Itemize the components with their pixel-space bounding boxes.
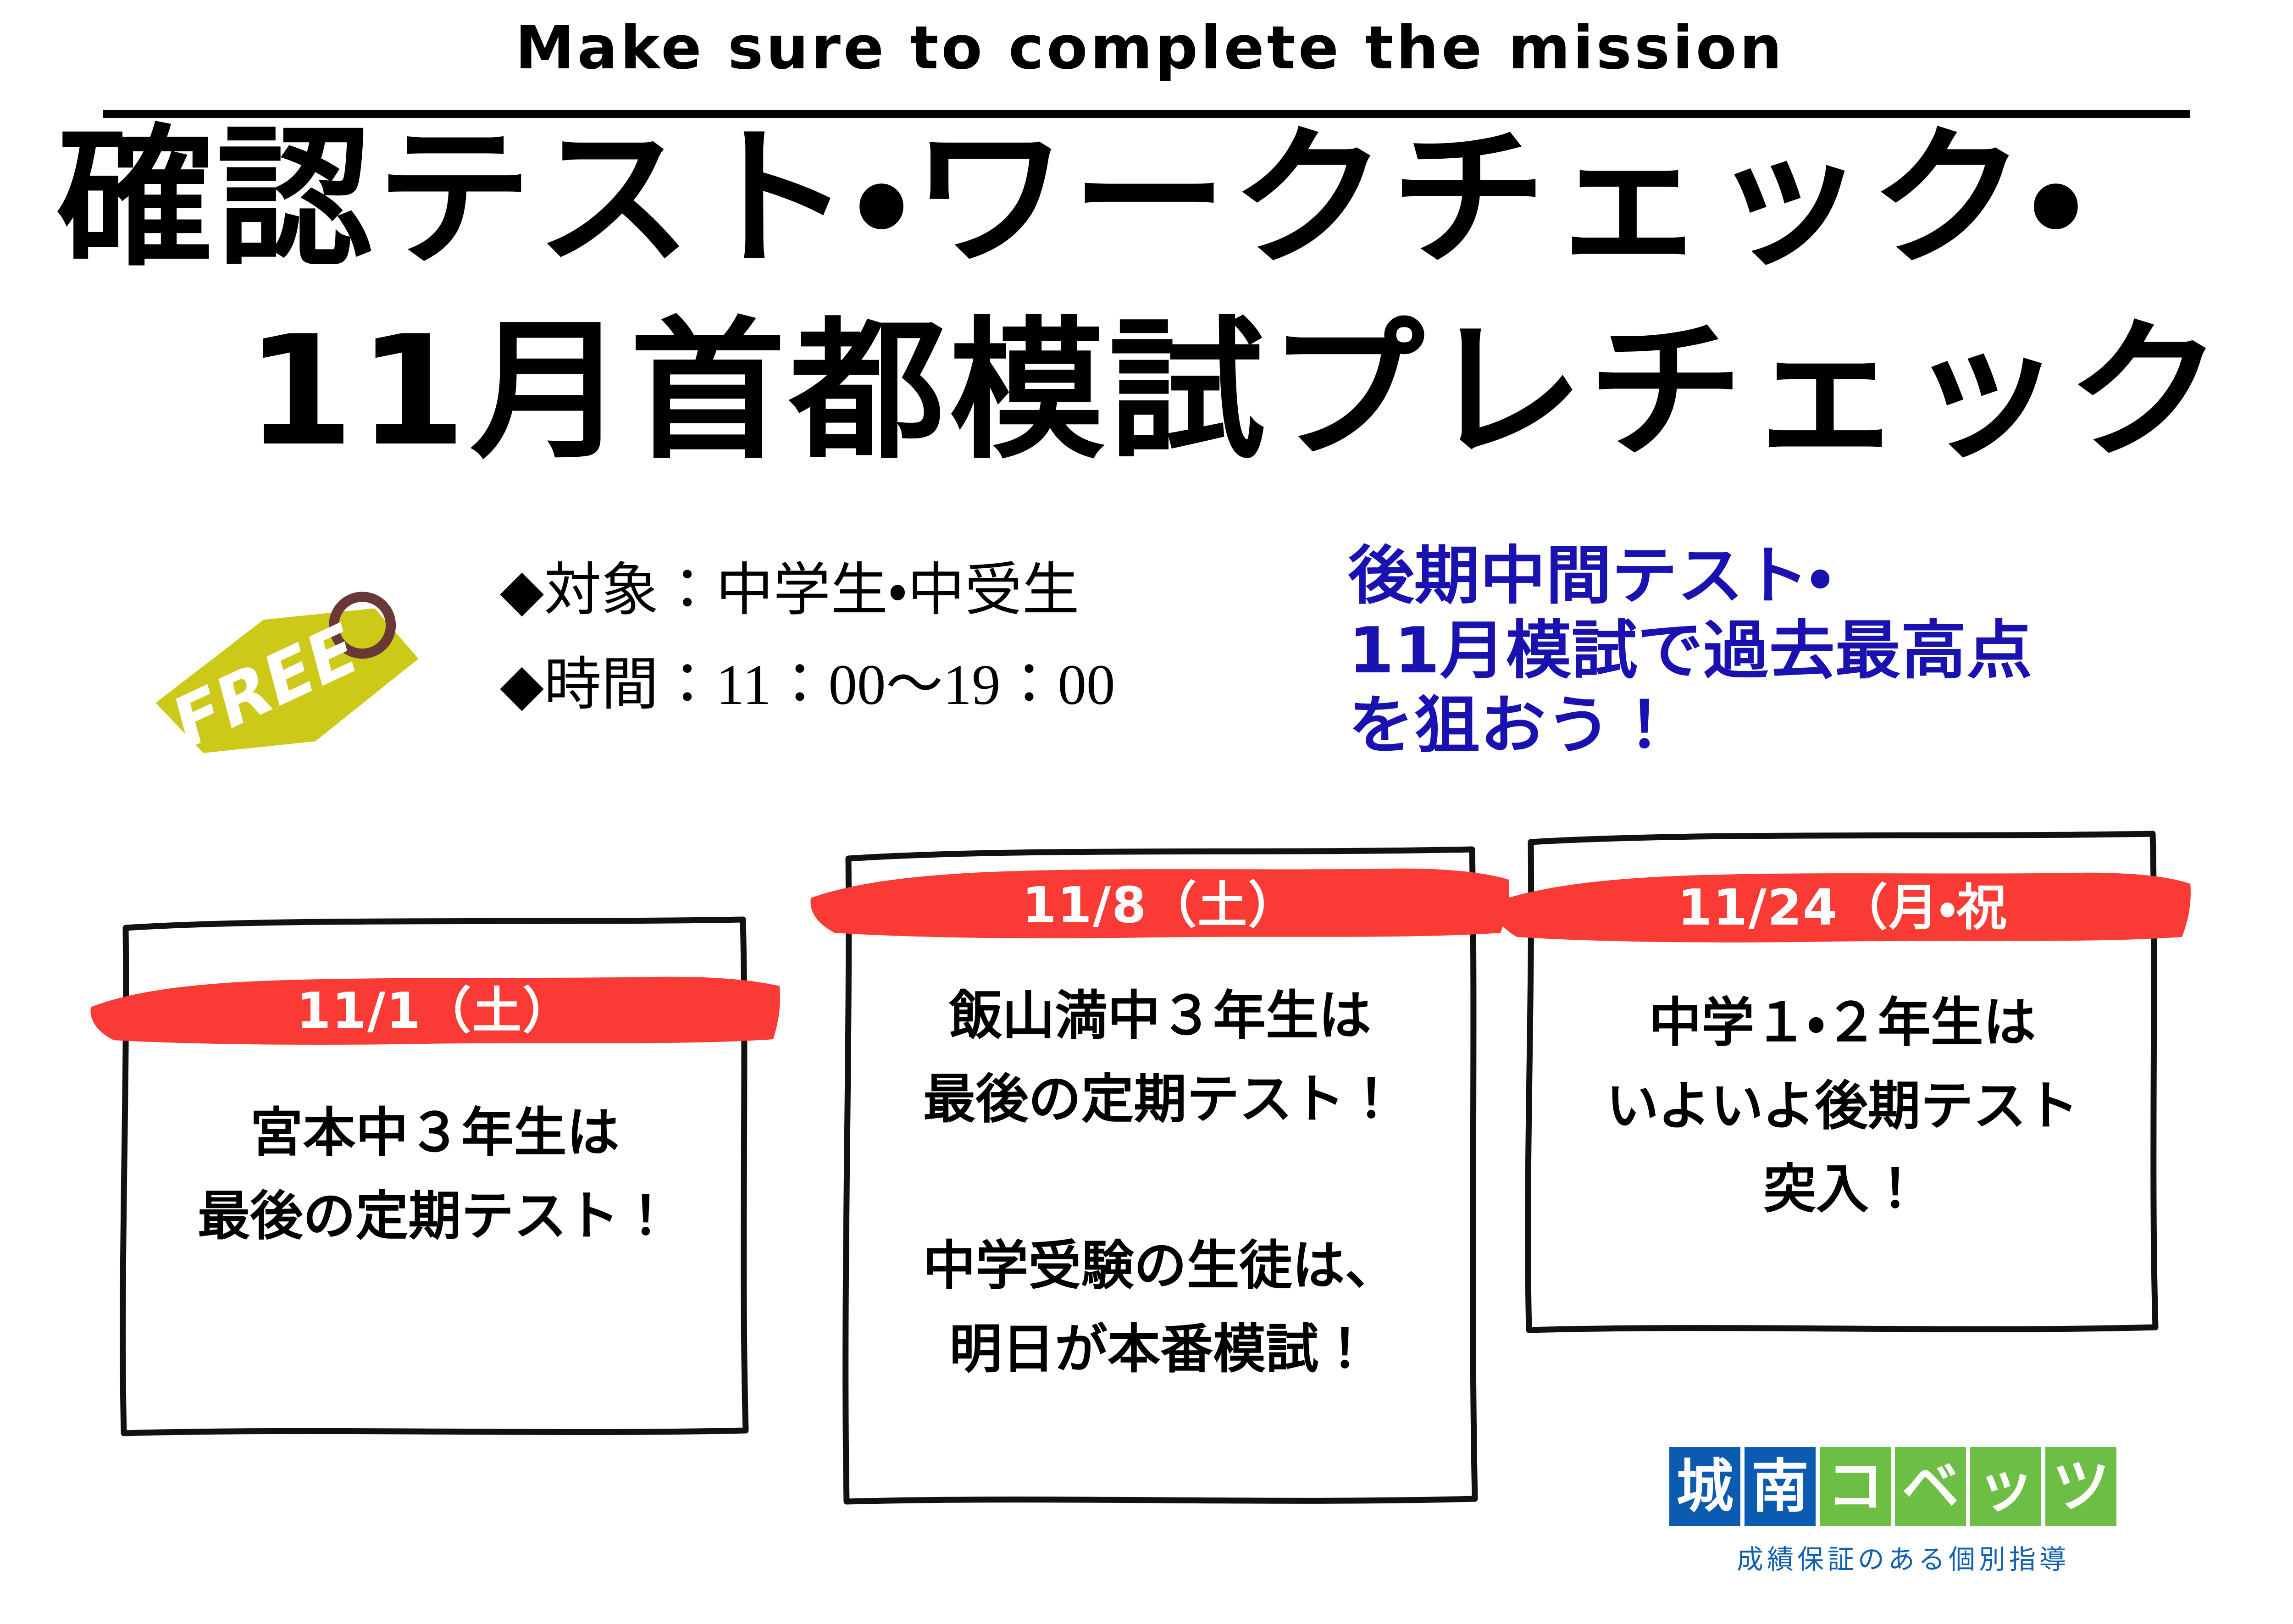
card-body-line: 最後の定期テスト！: [835, 1058, 1486, 1142]
page-title: 確認テスト・ワークチェック・ 11月首都模試プレチェック: [0, 123, 2293, 467]
card-body-line: いよいよ後期テスト: [1518, 1065, 2167, 1148]
card-body-line: 飯山満中３年生は: [835, 975, 1486, 1058]
logo-tile-tsu: ツ: [2045, 1447, 2116, 1526]
card-body-2: 飯山満中３年生は 最後の定期テスト！ 中学受験の生徒は、 明日が本番模試！: [835, 975, 1486, 1391]
card-body-line: 中学１・２年生は: [1518, 981, 2167, 1065]
date-card-3: 11/24（月・祝 中学１・２年生は いよいよ後期テスト 突入！: [1518, 826, 2167, 1339]
card-date-label-2: 11/8（土）: [835, 858, 1486, 945]
card-date-label-1: 11/1（土）: [114, 963, 756, 1050]
card-body-line: 明日が本番模試！: [835, 1308, 1486, 1391]
card-body-spacer: [835, 1141, 1486, 1225]
logo-tiles: 城 南 コ ベ ッ ツ: [1669, 1447, 2137, 1526]
event-info-list: ◆対象：中学生・中受生 ◆時間：11：00〜19：00: [500, 543, 1115, 733]
date-card-1: 11/1（土） 宮本中３年生は 最後の定期テスト！: [114, 910, 756, 1442]
promo-line-2: 11月模試で過去最高点: [1348, 614, 2032, 688]
brand-logo: 城 南 コ ベ ッ ツ 成績保証のある個別指導: [1669, 1447, 2137, 1576]
card-body-line: 宮本中３年生は: [114, 1092, 756, 1175]
date-card-2: 11/8（土） 飯山満中３年生は 最後の定期テスト！ 中学受験の生徒は、 明日が…: [835, 839, 1486, 1511]
card-body-1: 宮本中３年生は 最後の定期テスト！: [114, 1092, 756, 1258]
logo-tagline: 成績保証のある個別指導: [1669, 1538, 2137, 1576]
logo-tile-jou: 城: [1669, 1447, 1740, 1526]
info-row-target: ◆対象：中学生・中受生: [500, 543, 1115, 638]
info-row-time: ◆時間：11：00〜19：00: [500, 638, 1115, 732]
header-kicker: Make sure to complete the mission: [0, 13, 2293, 83]
free-price-tag: FREE: [138, 596, 459, 748]
promo-message: 後期中間テスト・ 11月模試で過去最高点 を狙おう！: [1348, 539, 2032, 763]
poster-root: Make sure to complete the mission 確認テスト・…: [0, 0, 2293, 1624]
card-body-line: 中学受験の生徒は、: [835, 1225, 1486, 1308]
card-body-line: 突入！: [1518, 1148, 2167, 1231]
logo-tile-small-tsu: ッ: [1970, 1447, 2041, 1526]
logo-tile-nan: 南: [1745, 1447, 1816, 1526]
logo-tile-be: ベ: [1895, 1447, 1966, 1526]
promo-line-3: を狙おう！: [1348, 688, 2032, 763]
promo-line-1: 後期中間テスト・: [1348, 539, 2032, 614]
card-body-3: 中学１・２年生は いよいよ後期テスト 突入！: [1518, 981, 2167, 1231]
card-date-label-3: 11/24（月・祝: [1518, 860, 2167, 947]
title-line-2: 11月首都模試プレチェック: [0, 316, 2293, 467]
title-line-1: 確認テスト・ワークチェック・: [0, 123, 2293, 274]
card-body-line: 最後の定期テスト！: [114, 1175, 756, 1258]
logo-tile-ko: コ: [1820, 1447, 1891, 1526]
